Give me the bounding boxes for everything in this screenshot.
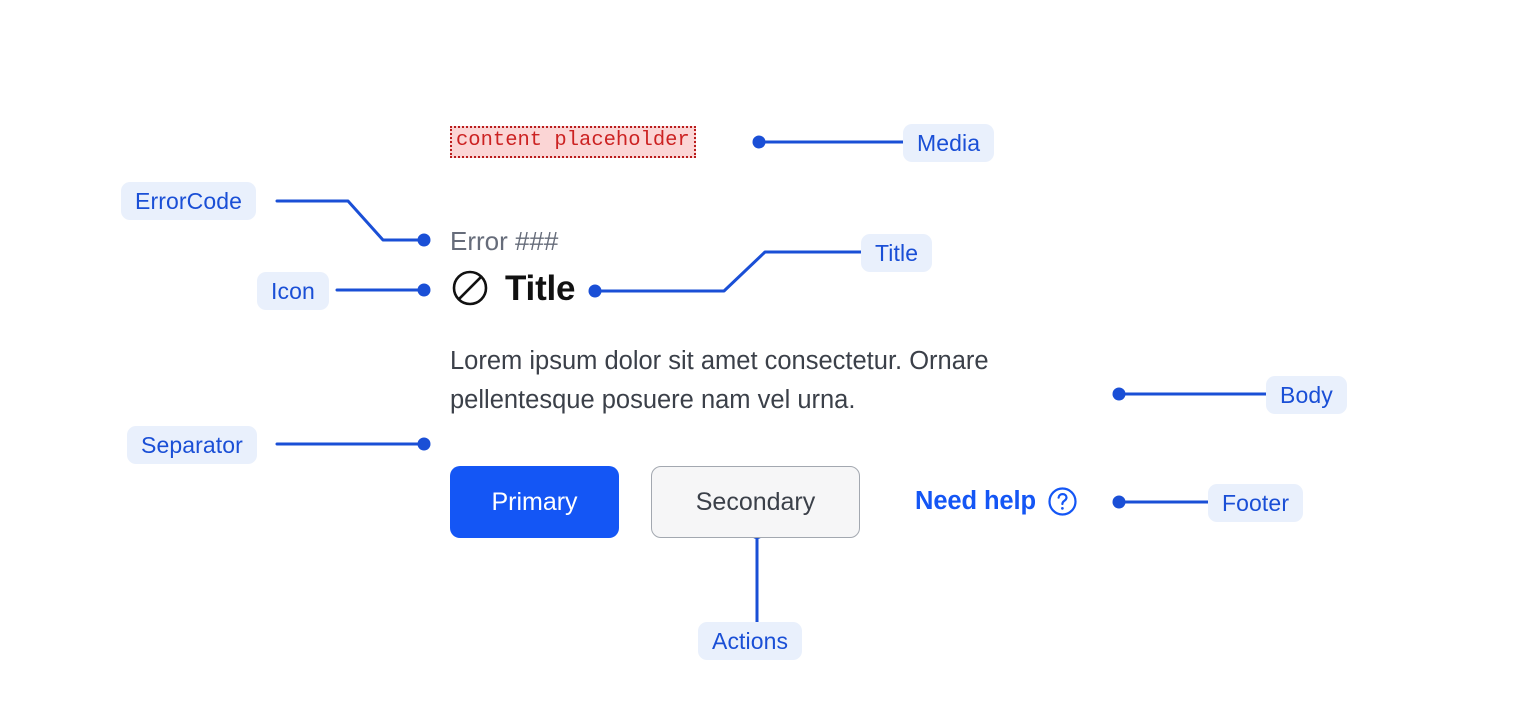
need-help-link[interactable]: Need help (915, 486, 1078, 517)
annotation-pill-separator[interactable]: Separator (127, 426, 257, 464)
connector-dot-footer (1113, 496, 1126, 509)
page-title: Title (505, 271, 575, 306)
annotation-pill-actions[interactable]: Actions (698, 622, 802, 660)
annotation-pill-media[interactable]: Media (903, 124, 994, 162)
media-content-placeholder: content placeholder (450, 126, 696, 158)
annotation-pill-title[interactable]: Title (861, 234, 932, 272)
question-circle-icon[interactable] (1047, 486, 1078, 517)
need-help-label: Need help (915, 489, 1036, 515)
error-code-text: Error ### (450, 227, 558, 257)
annotation-pill-errorcode[interactable]: ErrorCode (121, 182, 256, 220)
prohibited-circle-icon (450, 268, 490, 308)
connector-title (595, 252, 861, 291)
connector-dot-title (589, 285, 602, 298)
primary-button[interactable]: Primary (450, 466, 619, 538)
annotation-pill-footer[interactable]: Footer (1208, 484, 1303, 522)
connector-dot-media (753, 136, 766, 149)
connector-dot-errorcode (418, 234, 431, 247)
connector-dot-icon (418, 284, 431, 297)
annotation-canvas: content placeholder Error ### Title Lore… (0, 0, 1536, 724)
actions-group: Primary Secondary (450, 466, 860, 538)
title-row: Title (450, 268, 575, 308)
annotation-pill-body[interactable]: Body (1266, 376, 1347, 414)
connector-errorcode (277, 201, 424, 240)
body-text: Lorem ipsum dolor sit amet consectetur. … (450, 342, 1090, 420)
secondary-button[interactable]: Secondary (651, 466, 860, 538)
connector-dot-body (1113, 388, 1126, 401)
connector-dot-separator (418, 438, 431, 451)
annotation-pill-icon[interactable]: Icon (257, 272, 329, 310)
